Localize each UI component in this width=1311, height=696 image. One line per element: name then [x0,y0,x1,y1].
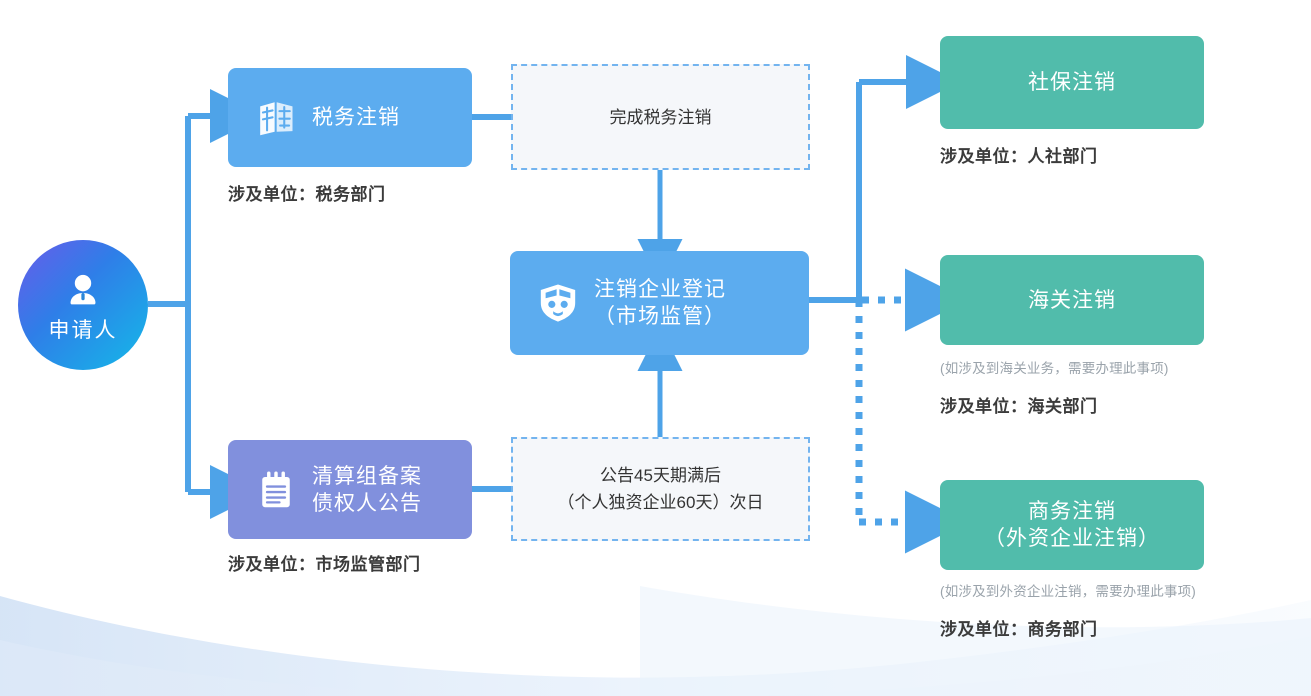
node-liquidation-filing[interactable]: 清算组备案 债权人公告 [228,440,472,539]
connector-applicant-branch [148,116,216,492]
caption-customs-department: 涉及单位：海关部门 [940,392,1098,417]
node-commerce-label: 商务注销 （外资企业注销） [984,498,1160,552]
start-node-applicant[interactable]: 申请人 [18,240,148,370]
node-tax-cancellation[interactable]: 税务注销 [228,68,472,167]
caption-tax-department: 涉及单位：税务部门 [228,180,386,205]
note-tax-completed: 完成税务注销 [511,64,810,170]
note-tax-completed-text: 完成税务注销 [610,104,712,131]
node-social-security-cancellation[interactable]: 社保注销 [940,36,1204,129]
notepad-icon [254,468,298,512]
tax-cube-icon [254,96,298,140]
start-node-label: 申请人 [49,314,118,344]
shield-icon [536,281,580,325]
note-announcement-period: 公告45天期满后 （个人独资企业60天）次日 [511,437,810,541]
person-icon [62,270,104,312]
caption-market-regulation-department: 涉及单位：市场监管部门 [228,550,421,575]
connector-dotted-to-commerce [859,300,912,522]
hint-customs: (如涉及到海关业务，需要办理此事项) [940,357,1169,377]
caption-human-resources-department: 涉及单位：人社部门 [940,142,1098,167]
node-customs-cancellation[interactable]: 海关注销 [940,255,1204,345]
caption-commerce-department: 涉及单位：商务部门 [940,615,1098,640]
node-commerce-cancellation[interactable]: 商务注销 （外资企业注销） [940,480,1204,570]
connector-registration-to-outputs [808,82,912,300]
hint-commerce: (如涉及到外资企业注销，需要办理此事项) [940,580,1196,600]
node-registration-label: 注销企业登记 （市场监管） [594,276,726,330]
node-registration-cancellation[interactable]: 注销企业登记 （市场监管） [510,251,809,355]
node-social-security-label: 社保注销 [1028,69,1116,96]
note-announcement-period-text: 公告45天期满后 （个人独资企业60天）次日 [558,462,764,516]
flowchart-canvas: 申请人 税务注销 涉及单位：税务部门 完成税务注销 [0,0,1311,696]
node-liquidation-label: 清算组备案 债权人公告 [312,463,422,517]
node-tax-label: 税务注销 [312,104,400,131]
node-customs-label: 海关注销 [1028,287,1116,314]
